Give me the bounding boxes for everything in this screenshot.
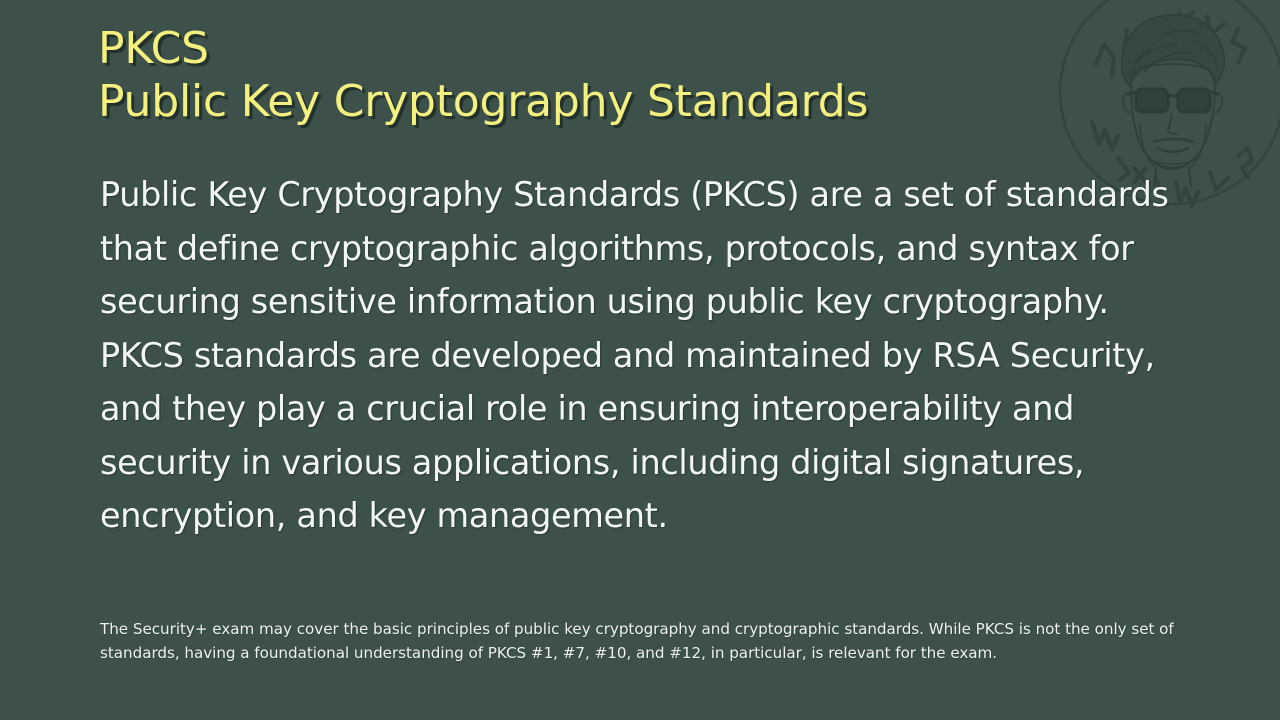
footer-note: The Security+ exam may cover the basic p…: [100, 618, 1185, 665]
slide-title: PKCS Public Key Cryptography Standards: [98, 22, 1078, 128]
title-line-primary: PKCS: [98, 22, 1078, 75]
slide-body: Public Key Cryptography Standards (PKCS)…: [100, 168, 1195, 543]
slide-footer: The Security+ exam may cover the basic p…: [100, 618, 1185, 665]
body-paragraph: Public Key Cryptography Standards (PKCS)…: [100, 168, 1195, 543]
slide-canvas: PKCS Public Key Cryptography Standards P…: [0, 0, 1280, 720]
title-line-secondary: Public Key Cryptography Standards: [98, 75, 1078, 128]
